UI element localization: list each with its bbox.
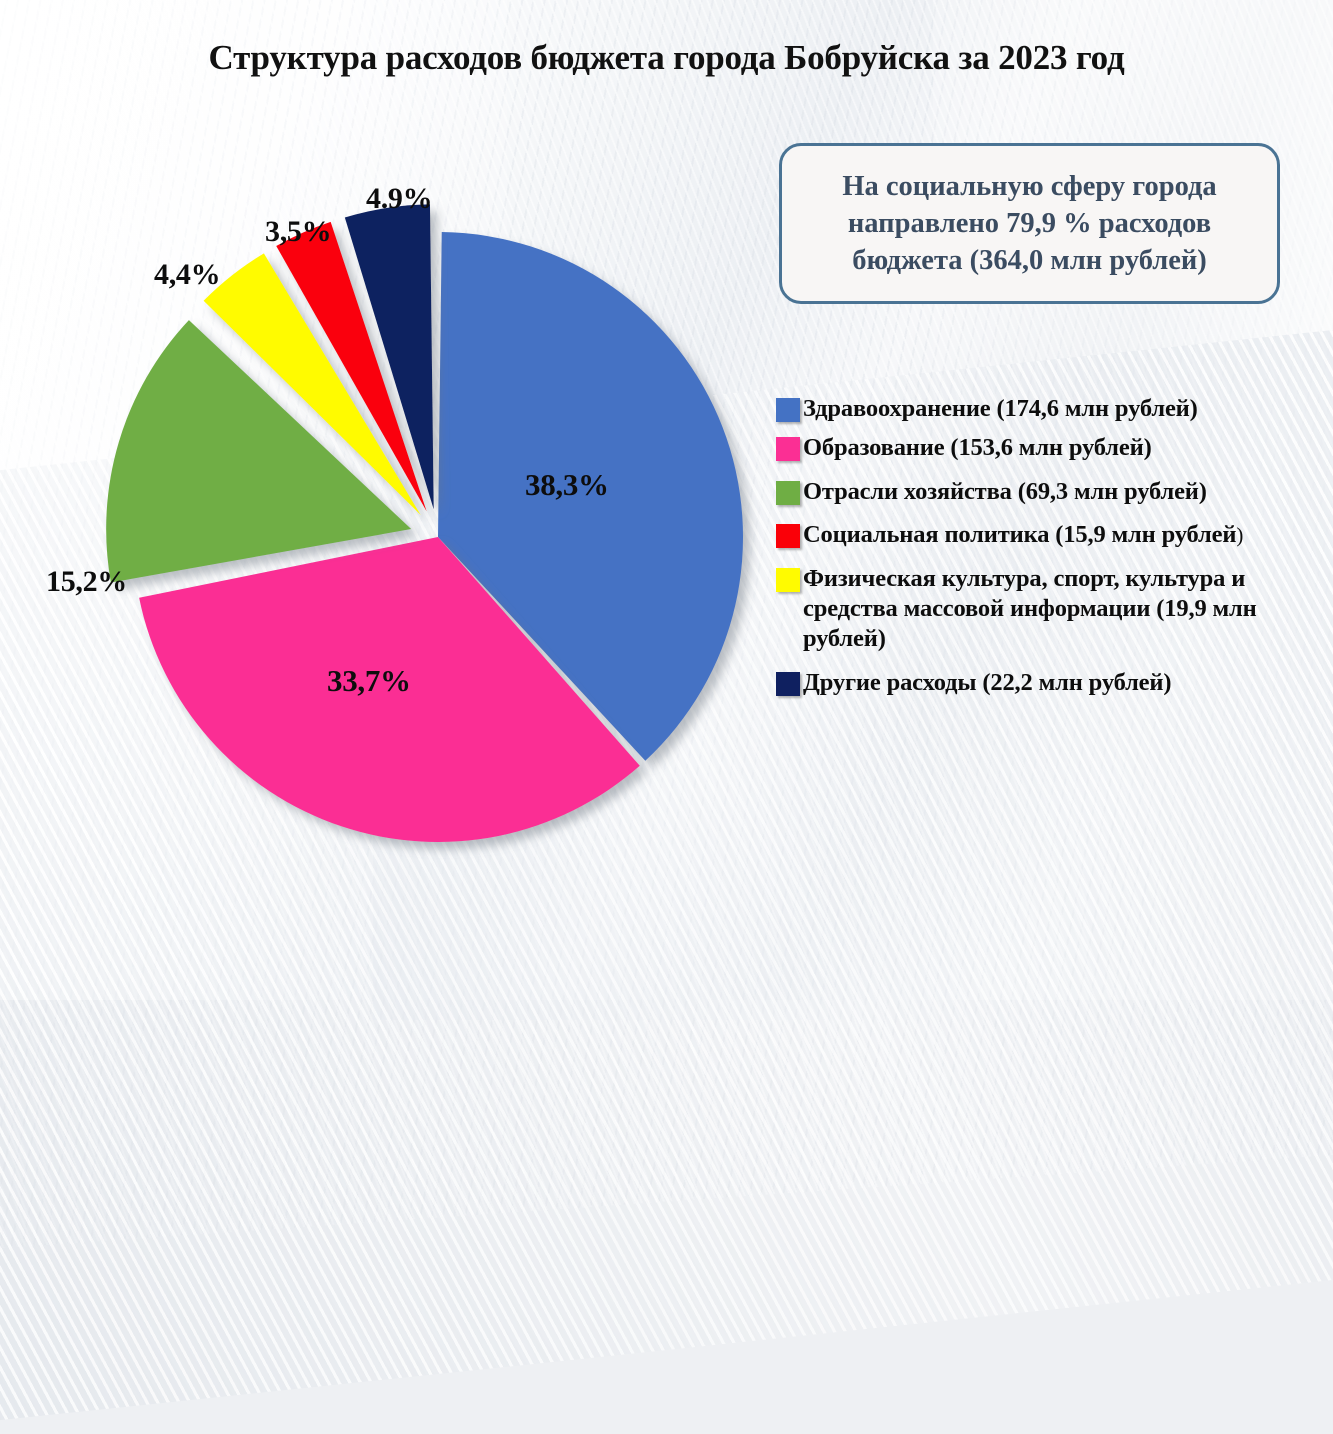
legend-item-economy[interactable]: Отрасли хозяйства (69,3 млн рублей) xyxy=(776,477,1332,507)
page-title: Структура расходов бюджета города Бобруй… xyxy=(0,38,1333,78)
legend-label-culture-sport: Физическая культура, спорт, культура и с… xyxy=(803,564,1332,655)
legend-swatch-other-expenses xyxy=(776,672,800,696)
legend-item-health[interactable]: Здравоохранение (174,6 млн рублей) xyxy=(776,394,1332,424)
pie-label-culture-sport: 4,4% xyxy=(154,258,220,292)
legend-label-other-expenses: Другие расходы (22,2 млн рублей) xyxy=(803,668,1171,698)
pie-label-education: 33,7% xyxy=(327,663,411,699)
legend-label-economy: Отрасли хозяйства (69,3 млн рублей) xyxy=(803,477,1207,507)
legend-swatch-education xyxy=(776,437,800,461)
pie-label-social-policy: 3,5% xyxy=(265,215,331,249)
legend-swatch-culture-sport xyxy=(776,568,800,592)
legend-label-tail-social-policy: ) xyxy=(1236,523,1243,547)
pie-slices xyxy=(106,204,743,842)
pie-chart-svg xyxy=(0,150,780,940)
legend-label-social-policy: Социальная политика (15,9 млн рублей) xyxy=(803,520,1243,550)
callout-text: На социальную сферу города направлено 79… xyxy=(828,168,1230,279)
legend-swatch-social-policy xyxy=(776,524,800,548)
legend-swatch-health xyxy=(776,398,800,422)
legend-swatch-economy xyxy=(776,481,800,505)
pie-label-health: 38,3% xyxy=(525,467,609,503)
callout-box: На социальную сферу города направлено 79… xyxy=(779,143,1280,304)
legend-item-social-policy[interactable]: Социальная политика (15,9 млн рублей) xyxy=(776,520,1332,550)
legend-label-health: Здравоохранение (174,6 млн рублей) xyxy=(803,394,1198,424)
pie-label-economy: 15,2% xyxy=(46,565,127,599)
legend-item-culture-sport[interactable]: Физическая культура, спорт, культура и с… xyxy=(776,564,1332,655)
legend-item-education[interactable]: Образование (153,6 млн рублей) xyxy=(776,433,1332,463)
legend-label-education: Образование (153,6 млн рублей) xyxy=(803,433,1152,463)
pie-label-other-expenses: 4.9% xyxy=(366,182,432,216)
legend-item-other-expenses[interactable]: Другие расходы (22,2 млн рублей) xyxy=(776,668,1332,698)
chart-legend: Здравоохранение (174,6 млн рублей)Образо… xyxy=(776,394,1332,707)
pie-chart: 15,2% 4,4% 3,5% 4.9% 38,3% 33,7% xyxy=(0,150,780,940)
